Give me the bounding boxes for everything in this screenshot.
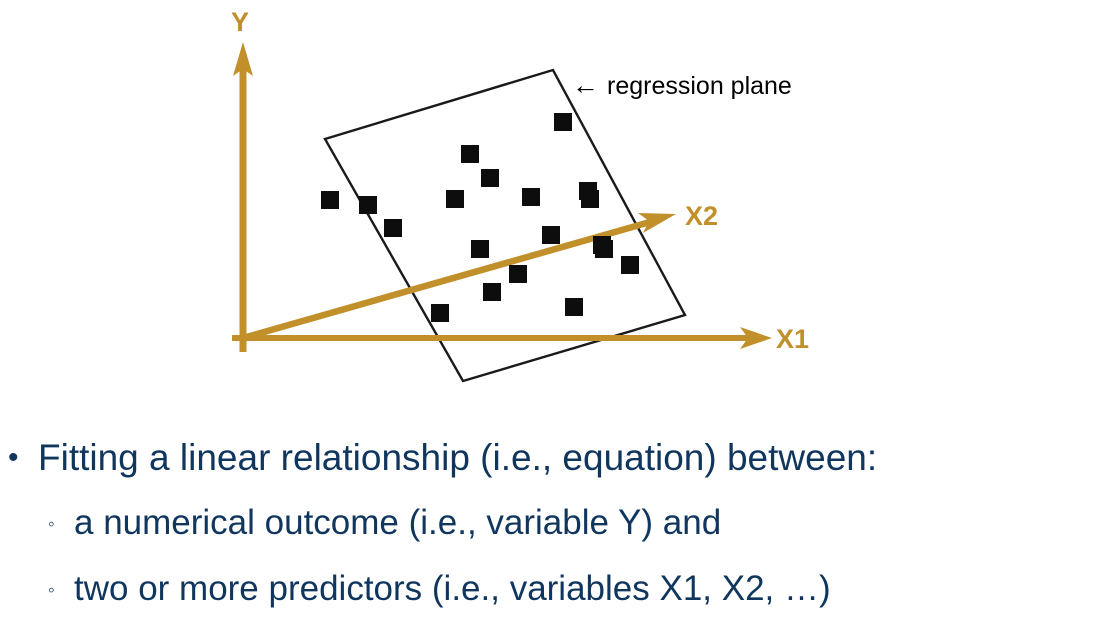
scatter-point xyxy=(509,265,527,283)
bullet-marker-circle-icon: ◦ xyxy=(48,564,74,618)
scatter-point xyxy=(579,182,597,200)
slide-canvas: Y X1 X2 ← regression plane • Fitting a l… xyxy=(0,0,1100,644)
scatter-point xyxy=(565,298,583,316)
bullet-item-1: • Fitting a linear relationship (i.e., e… xyxy=(0,432,1100,484)
x1-axis-label: X1 xyxy=(776,324,809,354)
callout-label: regression plane xyxy=(607,72,792,100)
bullet-text-3: two or more predictors (i.e., variables … xyxy=(74,564,831,614)
scatter-point xyxy=(542,226,560,244)
callout-left-arrow-icon: ← xyxy=(572,70,599,100)
scatter-point xyxy=(446,190,464,208)
scatter-point xyxy=(522,188,540,206)
regression-plane-figure: Y X1 X2 ← regression plane xyxy=(0,0,1100,420)
scatter-point xyxy=(359,196,377,214)
y-axis-label: Y xyxy=(231,7,249,37)
scatter-point xyxy=(554,113,572,131)
scatter-point xyxy=(461,145,479,163)
bullet-item-2: ◦ a numerical outcome (i.e., variable Y)… xyxy=(0,498,1100,552)
bullet-item-3: ◦ two or more predictors (i.e., variable… xyxy=(0,564,1100,618)
scatter-point xyxy=(471,240,489,258)
scatter-point xyxy=(483,283,501,301)
x2-axis xyxy=(243,213,676,338)
scatter-point xyxy=(431,304,449,322)
bullet-text-2: a numerical outcome (i.e., variable Y) a… xyxy=(74,498,721,548)
bullet-list: • Fitting a linear relationship (i.e., e… xyxy=(0,432,1100,630)
scatter-point xyxy=(621,256,639,274)
bullet-marker-disc-icon: • xyxy=(8,432,38,484)
scatter-point xyxy=(321,191,339,209)
x1-axis xyxy=(232,327,772,349)
y-axis xyxy=(233,42,253,352)
scatter-point xyxy=(384,219,402,237)
x2-axis-label: X2 xyxy=(685,201,718,231)
bullet-marker-circle-icon: ◦ xyxy=(48,498,74,552)
scatter-point xyxy=(481,169,499,187)
bullet-text-1: Fitting a linear relationship (i.e., equ… xyxy=(38,432,877,484)
scatter-point xyxy=(593,236,611,254)
